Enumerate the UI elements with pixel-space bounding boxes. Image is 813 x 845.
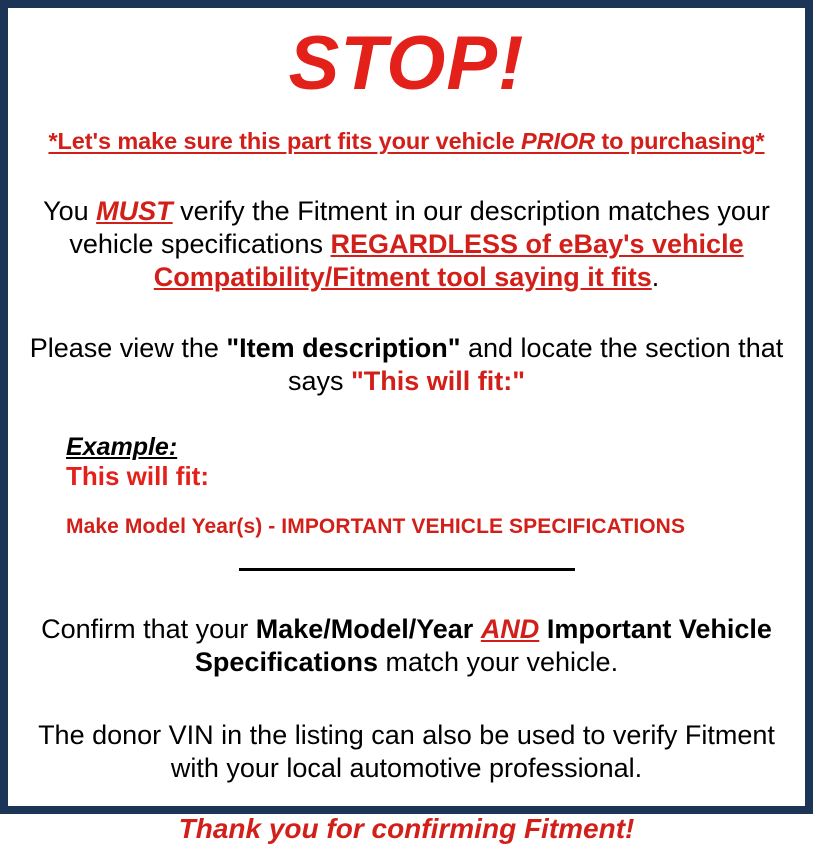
emphasis-item-description: "Item description"	[226, 333, 460, 363]
confirm-seg-2	[473, 614, 481, 644]
thank-you-message: Thank you for confirming Fitment!	[18, 813, 795, 845]
confirm-seg-3	[539, 614, 547, 644]
example-block: Example: This will fit: Make Model Year(…	[18, 434, 795, 539]
confirm-seg-1: Confirm that your	[41, 614, 256, 644]
emphasis-this-will-fit: "This will fit:"	[351, 366, 525, 396]
horizontal-divider	[239, 568, 575, 571]
tagline-lead: *Let's make sure this part fits your veh…	[48, 128, 521, 154]
paragraph-confirm: Confirm that your Make/Model/Year AND Im…	[18, 613, 795, 679]
example-spec-line: Make Model Year(s) - IMPORTANT VEHICLE S…	[66, 515, 795, 539]
emphasis-and: AND	[481, 614, 540, 644]
example-label-row: Example:	[66, 434, 795, 460]
tagline: *Let's make sure this part fits your veh…	[18, 128, 795, 155]
itemdesc-seg-1: Please view the	[30, 333, 227, 363]
must-seg-3: .	[652, 262, 660, 292]
emphasis-make-model-year: Make/Model/Year	[256, 614, 474, 644]
divider-wrapper	[18, 561, 795, 579]
must-seg-1: You	[43, 196, 96, 226]
emphasis-must: MUST	[96, 196, 173, 226]
confirm-seg-4: match your vehicle.	[378, 647, 618, 677]
tagline-emphasis-prior: PRIOR	[521, 128, 595, 154]
paragraph-donor-vin: The donor VIN in the listing can also be…	[18, 719, 795, 785]
paragraph-must-verify: You MUST verify the Fitment in our descr…	[18, 195, 795, 294]
page-title: STOP!	[18, 26, 795, 102]
tagline-tail: to purchasing*	[595, 128, 765, 154]
notice-content: STOP! *Let's make sure this part fits yo…	[8, 26, 805, 824]
fitment-notice-card: STOP! *Let's make sure this part fits yo…	[0, 0, 813, 814]
example-fits-heading: This will fit:	[66, 462, 795, 491]
example-label: Example:	[66, 434, 177, 460]
paragraph-item-description: Please view the "Item description" and l…	[18, 332, 795, 398]
